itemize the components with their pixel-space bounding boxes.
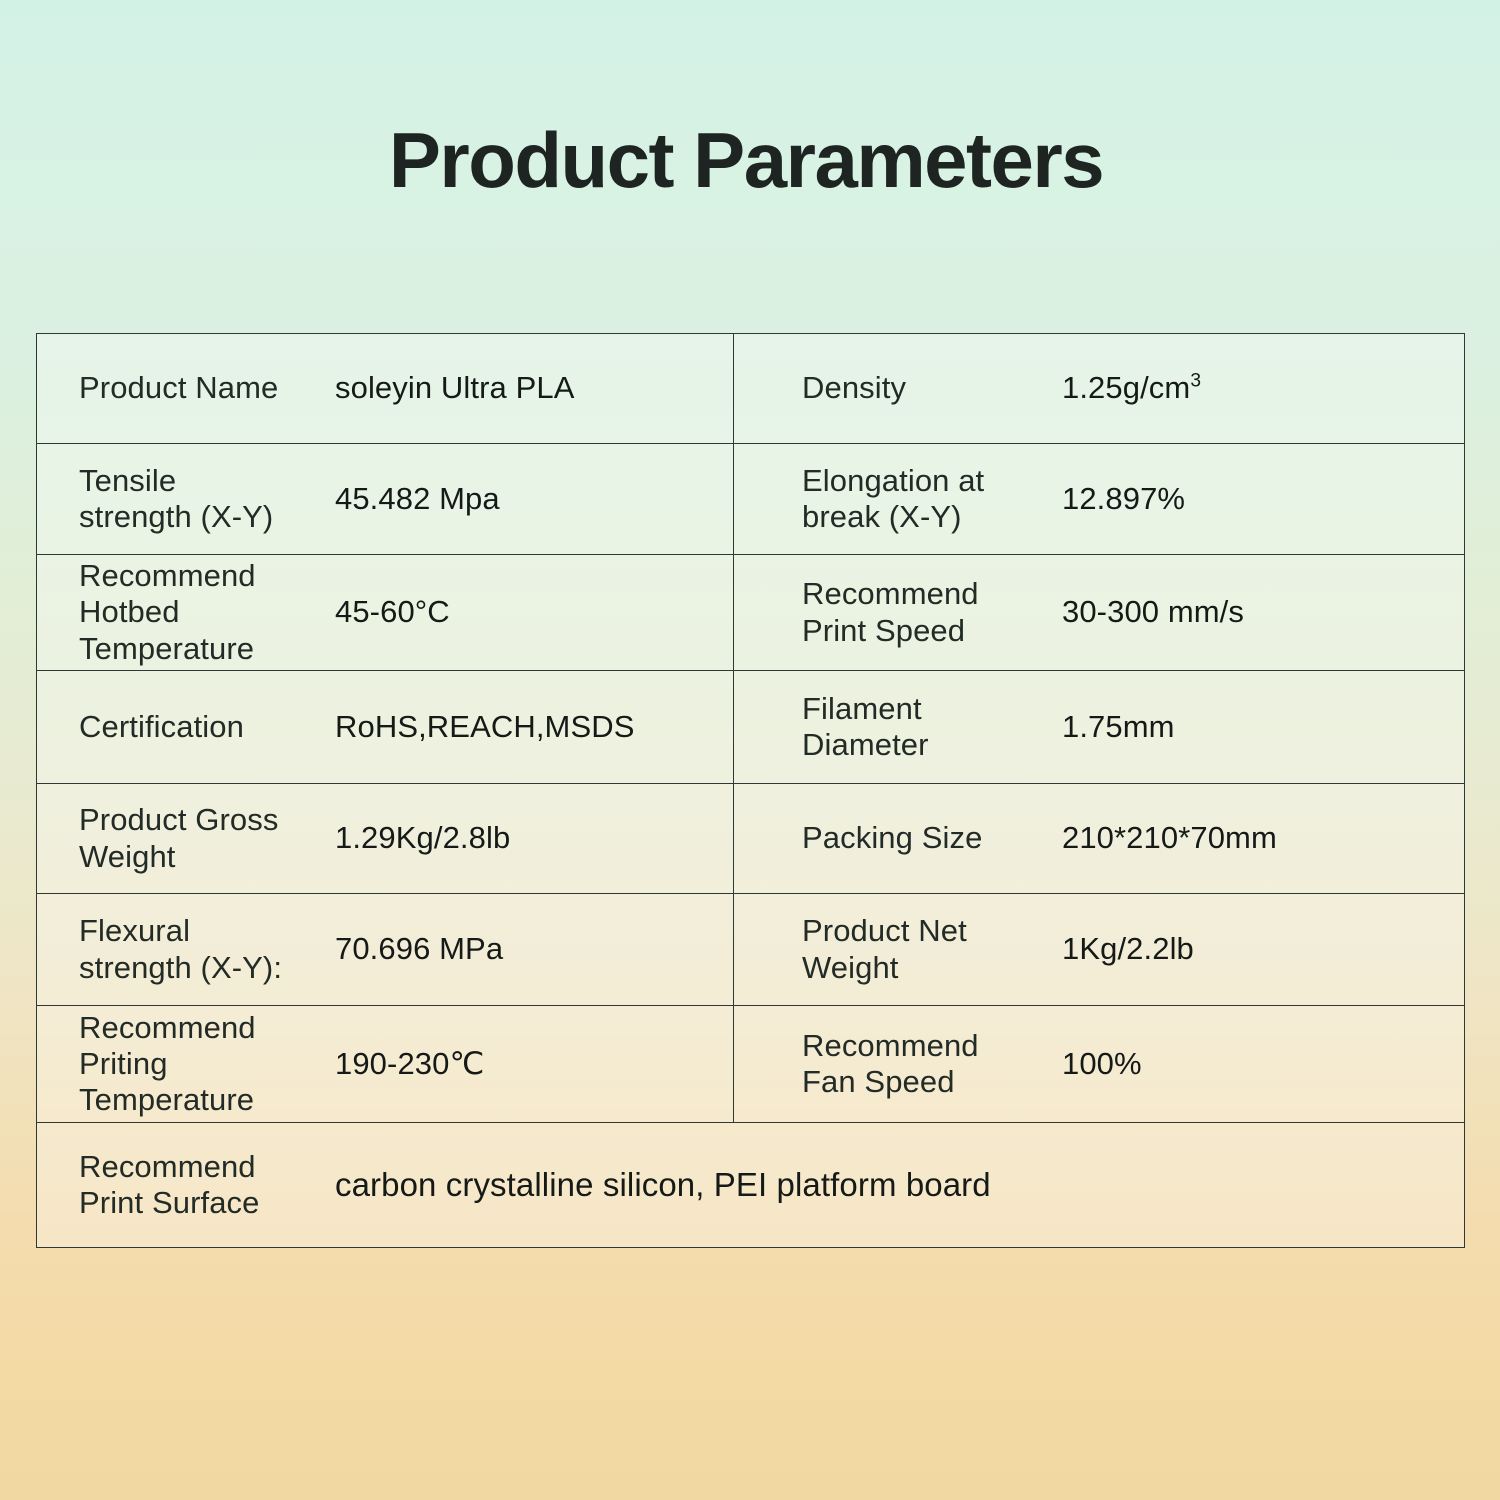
row-label: Product Net Weight <box>734 913 992 986</box>
row-value: 1Kg/2.2lb <box>992 931 1194 967</box>
table-cell-print-speed: Recommend Print Speed 30-300 mm/s <box>734 555 1464 670</box>
row-value: 45-60°C <box>293 594 450 630</box>
row-label: Tensile strength (X-Y) <box>37 463 293 536</box>
table-row: Product Name soleyin Ultra PLA Density 1… <box>37 334 1464 444</box>
row-value: soleyin Ultra PLA <box>293 370 574 406</box>
product-parameters-table: Product Name soleyin Ultra PLA Density 1… <box>36 333 1465 1248</box>
row-label: Product Name <box>37 370 293 406</box>
row-value: carbon crystalline silicon, PEI platform… <box>293 1166 991 1205</box>
page-title-container: Product Parameters <box>0 120 1500 202</box>
table-cell-filament-diameter: Filament Diameter 1.75mm <box>734 671 1464 783</box>
table-cell-net-weight: Product Net Weight 1Kg/2.2lb <box>734 894 1464 1005</box>
row-value: 1.25g/cm3 <box>992 370 1201 406</box>
row-label: Recommend Print Surface <box>37 1149 293 1222</box>
table-row: Flexural strength (X-Y): 70.696 MPa Prod… <box>37 894 1464 1006</box>
table-row: Recommend Print Surface carbon crystalli… <box>37 1123 1464 1248</box>
table-cell-packing-size: Packing Size 210*210*70mm <box>734 784 1464 893</box>
row-value: 30-300 mm/s <box>992 594 1244 630</box>
row-value: 210*210*70mm <box>992 820 1277 856</box>
page-title: Product Parameters <box>389 120 1103 202</box>
row-value: 1.75mm <box>992 709 1175 745</box>
row-value: 1.29Kg/2.8lb <box>293 820 510 856</box>
row-label: Recommend Print Speed <box>734 576 992 649</box>
row-label: Flexural strength (X-Y): <box>37 913 293 986</box>
row-value: 100% <box>992 1046 1142 1082</box>
row-label: Recommend Hotbed Temperature <box>37 558 293 667</box>
table-cell-print-surface: Recommend Print Surface carbon crystalli… <box>37 1123 1464 1247</box>
table-cell-hotbed-temperature: Recommend Hotbed Temperature 45-60°C <box>37 555 734 670</box>
row-label: Recommend Fan Speed <box>734 1028 992 1101</box>
row-label: Elongation at break (X-Y) <box>734 463 992 536</box>
row-value: 70.696 MPa <box>293 931 503 967</box>
row-value: 12.897% <box>992 481 1185 517</box>
row-label: Packing Size <box>734 820 992 856</box>
table-row: Recommend Priting Temperature 190-230℃ R… <box>37 1006 1464 1123</box>
table-cell-product-name: Product Name soleyin Ultra PLA <box>37 334 734 443</box>
table-row: Certification RoHS,REACH,MSDS Filament D… <box>37 671 1464 784</box>
row-value: 190-230℃ <box>293 1046 484 1082</box>
row-label: Recommend Priting Temperature <box>37 1010 293 1119</box>
row-value-text: 1.25g/cm <box>1062 370 1190 405</box>
table-cell-density: Density 1.25g/cm3 <box>734 334 1464 443</box>
row-value-superscript: 3 <box>1190 371 1201 392</box>
table-row: Tensile strength (X-Y) 45.482 Mpa Elonga… <box>37 444 1464 555</box>
table-cell-printing-temperature: Recommend Priting Temperature 190-230℃ <box>37 1006 734 1122</box>
table-cell-certification: Certification RoHS,REACH,MSDS <box>37 671 734 783</box>
row-value: 45.482 Mpa <box>293 481 500 517</box>
row-label: Density <box>734 370 992 406</box>
row-label: Certification <box>37 709 293 745</box>
table-cell-elongation-at-break: Elongation at break (X-Y) 12.897% <box>734 444 1464 554</box>
row-label: Filament Diameter <box>734 691 992 764</box>
table-cell-gross-weight: Product Gross Weight 1.29Kg/2.8lb <box>37 784 734 893</box>
row-value: RoHS,REACH,MSDS <box>293 709 635 745</box>
table-row: Recommend Hotbed Temperature 45-60°C Rec… <box>37 555 1464 671</box>
table-cell-flexural-strength: Flexural strength (X-Y): 70.696 MPa <box>37 894 734 1005</box>
table-cell-fan-speed: Recommend Fan Speed 100% <box>734 1006 1464 1122</box>
table-cell-tensile-strength: Tensile strength (X-Y) 45.482 Mpa <box>37 444 734 554</box>
table-row: Product Gross Weight 1.29Kg/2.8lb Packin… <box>37 784 1464 894</box>
row-label: Product Gross Weight <box>37 802 293 875</box>
